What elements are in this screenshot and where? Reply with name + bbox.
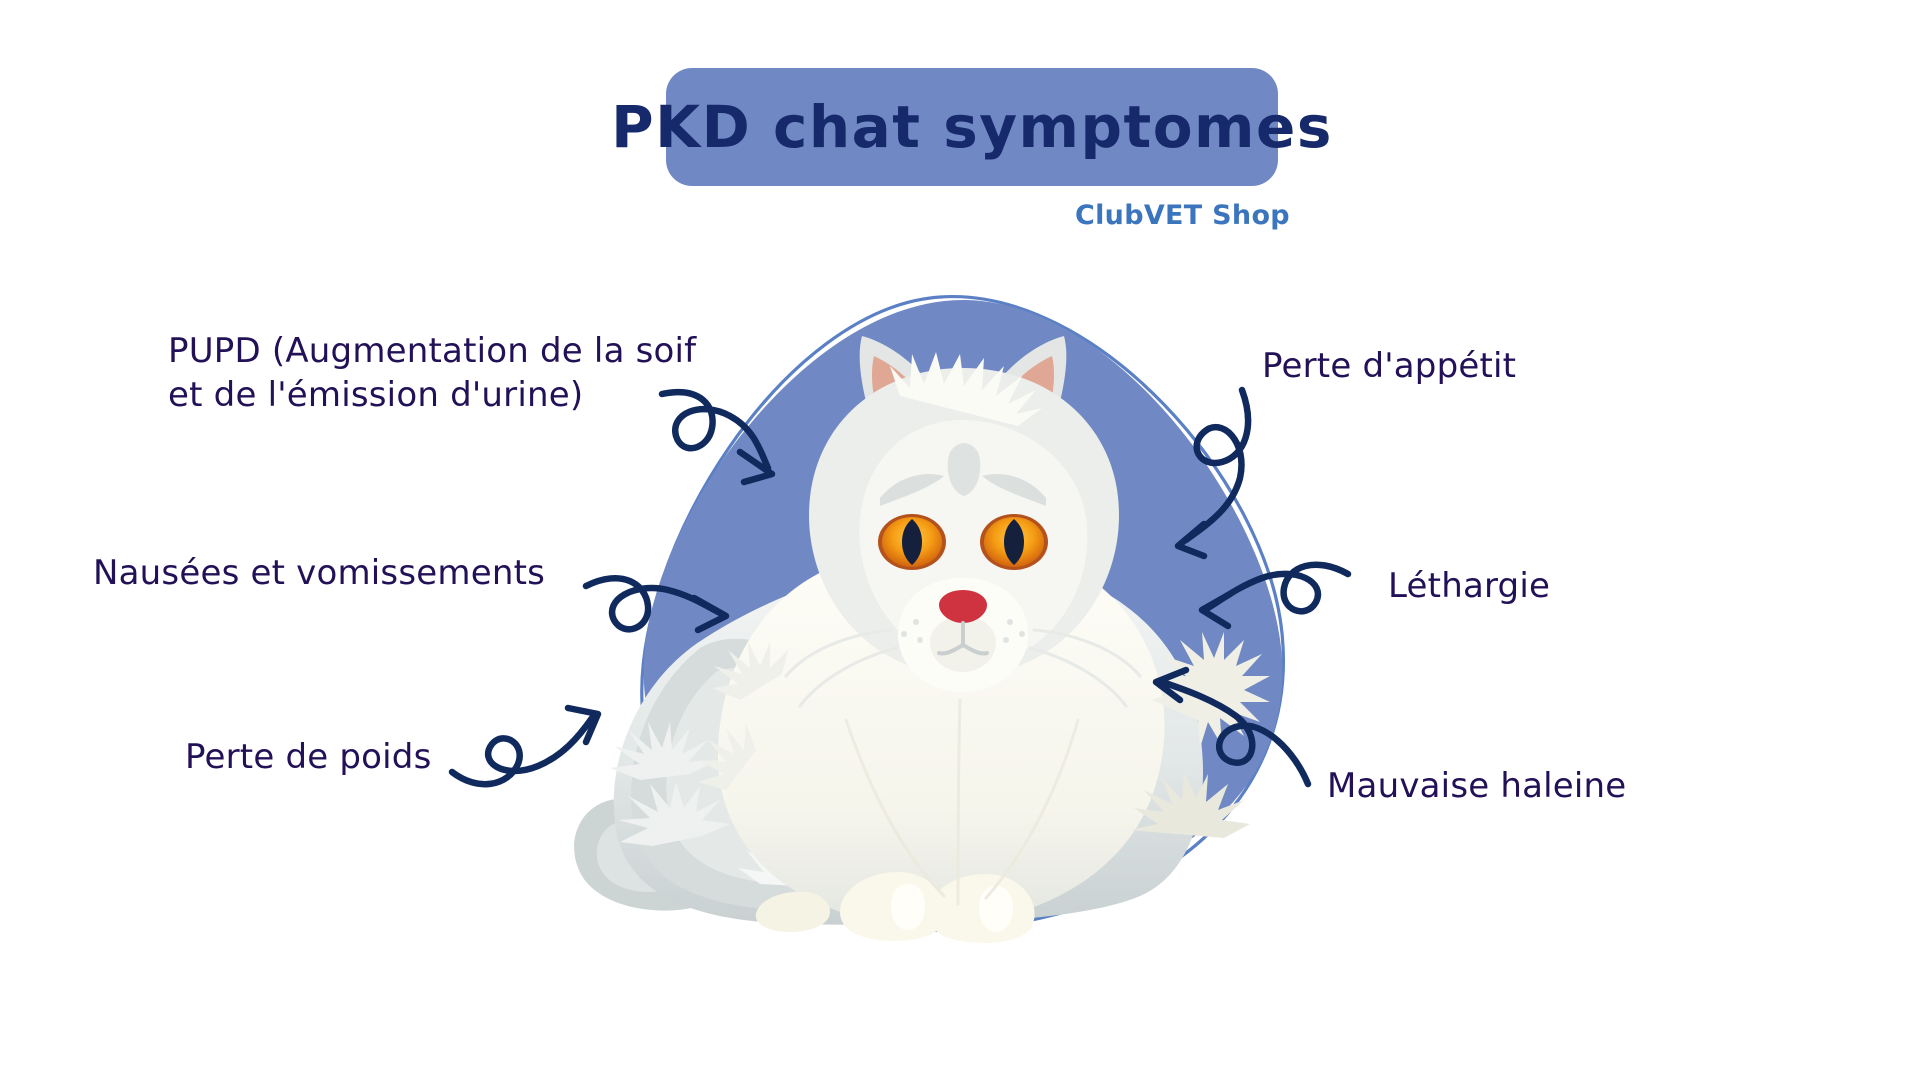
symptom-label-mauvaise-haleine: Mauvaise haleine: [1327, 765, 1626, 809]
symptom-label-perte-de-poids: Perte de poids: [185, 736, 431, 780]
infographic-canvas: PKD chat symptomes ClubVET Shop PUPD (Au…: [0, 0, 1920, 1080]
title-banner: PKD chat symptomes: [666, 68, 1278, 186]
arrow-perte-de-poids: [452, 708, 598, 784]
symptom-label-pupd: PUPD (Augmentation de la soif et de l'ém…: [168, 330, 696, 417]
symptom-label-lethargie: Léthargie: [1388, 565, 1550, 609]
symptom-label-nausees: Nausées et vomissements: [93, 552, 545, 596]
brand-subtitle: ClubVET Shop: [1075, 200, 1290, 231]
symptom-label-perte-appetit: Perte d'appétit: [1262, 345, 1516, 389]
page-title: PKD chat symptomes: [611, 98, 1333, 156]
